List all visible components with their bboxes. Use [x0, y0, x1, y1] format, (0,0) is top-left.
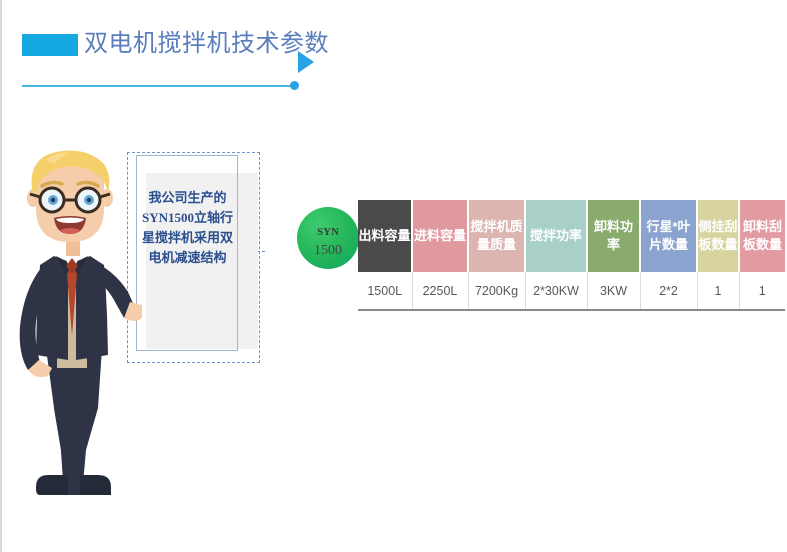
- table-cell: 2*30KW: [525, 272, 587, 310]
- table-cell: 2250L: [412, 272, 468, 310]
- slide-canvas: 双电机搅拌机技术参数 我公司生产的SYN1500立轴行星搅拌机采用双电机减速结构…: [0, 0, 787, 552]
- title-accent-swatch: [22, 34, 78, 56]
- title-underline: [22, 85, 296, 87]
- table-header-cell: 行星*叶片数量: [640, 200, 697, 272]
- table-cell: 1: [739, 272, 785, 310]
- table-header-cell: 出料容量: [358, 200, 412, 272]
- model-badge-number: 1500: [297, 243, 359, 259]
- table-header-cell: 搅拌机质量质量: [468, 200, 525, 272]
- model-badge-prefix: SYN: [297, 226, 359, 238]
- table-header-cell: 搅拌功率: [525, 200, 587, 272]
- left-edge-divider: [0, 0, 2, 552]
- table-cell: 1500L: [358, 272, 412, 310]
- page-title: 双电机搅拌机技术参数: [84, 28, 329, 60]
- table-cell: 2*2: [640, 272, 697, 310]
- table-cell: 1: [697, 272, 739, 310]
- title-underline-dot: [290, 81, 299, 90]
- callout-text: 我公司生产的SYN1500立轴行星搅拌机采用双电机减速结构: [138, 188, 237, 268]
- table-header-cell: 侧挂刮板数量: [697, 200, 739, 272]
- triangle-right-icon: [298, 51, 314, 73]
- spec-table: 出料容量 进料容量 搅拌机质量质量 搅拌功率 卸料功率 行星*叶片数量 侧挂刮板…: [358, 200, 785, 311]
- businessman-illustration: [6, 150, 142, 510]
- model-badge-circle: [297, 207, 359, 269]
- slide-header: 双电机搅拌机技术参数: [0, 26, 340, 80]
- table-header-cell: 卸料功率: [587, 200, 640, 272]
- table-header-cell: 卸料刮板数量: [739, 200, 785, 272]
- table-cell: 7200Kg: [468, 272, 525, 310]
- table-row: 1500L 2250L 7200Kg 2*30KW 3KW 2*2 1 1: [358, 272, 785, 310]
- table-cell: 3KW: [587, 272, 640, 310]
- table-header-cell: 进料容量: [412, 200, 468, 272]
- table-header-row: 出料容量 进料容量 搅拌机质量质量 搅拌功率 卸料功率 行星*叶片数量 侧挂刮板…: [358, 200, 785, 272]
